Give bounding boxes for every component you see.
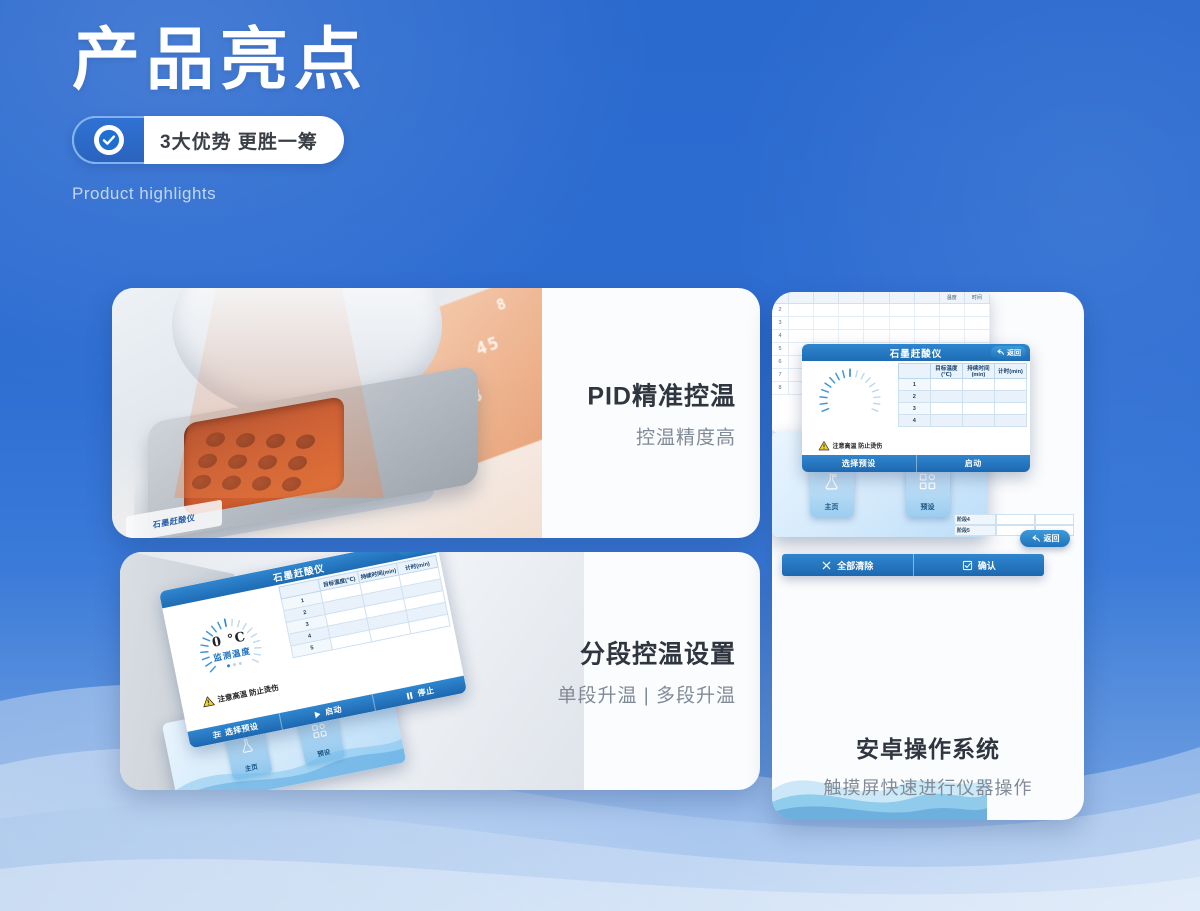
- warning-triangle-icon: [201, 694, 216, 709]
- start-button[interactable]: 启动: [917, 455, 1031, 472]
- list-cell[interactable]: [915, 304, 940, 316]
- stage-label: 阶段5: [954, 525, 996, 536]
- list-item: 3: [772, 317, 990, 330]
- table-row: 1: [898, 379, 1026, 391]
- list-cell[interactable]: [890, 304, 915, 316]
- list-header-col: [789, 292, 814, 303]
- screen-footer-bar: 选择预设 启动: [802, 455, 1030, 472]
- sliders-icon: [210, 728, 223, 741]
- list-cell[interactable]: [789, 330, 814, 342]
- list-item: 2: [772, 304, 990, 317]
- table-header-index: [898, 364, 930, 379]
- checkbox-icon: [962, 560, 973, 571]
- row-index: 3: [898, 403, 930, 415]
- segment-table[interactable]: 目标温度(℃) 持续时间(min) 计时(min) 1 2 3 4: [898, 363, 1027, 427]
- android-card-text: 安卓操作系统 触摸屏快速进行仪器操作: [772, 730, 1084, 800]
- clear-all-button[interactable]: 全部清除: [782, 554, 914, 576]
- card-pid[interactable]: 8 45 53 石墨赶酸仪 PID精准控温 控温精度高: [112, 288, 760, 538]
- page-dot[interactable]: [232, 663, 236, 667]
- page-header: 产品亮点 3大优势 更胜一筹 Product highlights: [72, 26, 368, 204]
- table-header-timer: 计时(min): [994, 364, 1026, 379]
- back-button-label: 返回: [1007, 348, 1021, 358]
- confirm-button[interactable]: 确认: [914, 554, 1045, 576]
- warning-text: 注意高温 防止烫伤: [833, 441, 883, 450]
- clear-all-label: 全部清除: [837, 559, 873, 572]
- preset-action-bar: 全部清除 确认: [782, 554, 1044, 576]
- table-header-duration: 持续时间(min): [962, 364, 994, 379]
- screen-title: 石墨赶酸仪: [890, 346, 943, 360]
- cell-target-temp[interactable]: [930, 415, 962, 427]
- cell-duration[interactable]: [962, 403, 994, 415]
- highlight-badge: 3大优势 更胜一筹: [72, 116, 344, 164]
- stage-label: 阶段4: [954, 514, 996, 525]
- stage-value[interactable]: [1035, 514, 1074, 525]
- page-dot[interactable]: [227, 664, 231, 668]
- table-row: 阶段4: [954, 514, 1074, 525]
- temperature-gauge-panel: 注意高温 防止烫伤: [802, 361, 898, 455]
- table-row: 4: [898, 415, 1026, 427]
- stage-value[interactable]: [996, 514, 1035, 525]
- cell-timer[interactable]: [994, 415, 1026, 427]
- warning-triangle-icon: [818, 440, 830, 452]
- cell-duration[interactable]: [962, 379, 994, 391]
- list-row-index: 7: [772, 369, 789, 381]
- table-row: 2: [898, 391, 1026, 403]
- menu-tile-home[interactable]: 主页: [810, 467, 854, 517]
- list-cell[interactable]: [864, 317, 889, 329]
- grid-settings-icon: [918, 472, 937, 496]
- list-cell[interactable]: [915, 330, 940, 342]
- back-arrow-icon: [403, 552, 414, 555]
- menu-tile-preset-label: 预设: [921, 502, 935, 512]
- table-header-row: 目标温度(℃) 持续时间(min) 计时(min): [898, 364, 1026, 379]
- menu-tile-home-label: 主页: [825, 502, 839, 512]
- gauge-dial: [815, 365, 885, 435]
- list-cell[interactable]: [789, 317, 814, 329]
- page-dot[interactable]: [238, 662, 242, 666]
- high-temp-warning: 注意高温 防止烫伤: [818, 440, 883, 452]
- list-row-index: 2: [772, 304, 789, 316]
- confirm-label: 确认: [978, 559, 996, 572]
- badge-icon-cap: [72, 116, 144, 164]
- preset-list-header: 温度 时间: [772, 292, 990, 304]
- stop-label: 停止: [417, 685, 436, 699]
- list-cell[interactable]: [814, 330, 839, 342]
- screen-body: 注意高温 防止烫伤 目标温度(℃) 持续时间(min) 计时(min) 1 2 …: [802, 361, 1030, 455]
- row-index: 2: [898, 391, 930, 403]
- cell-timer[interactable]: [994, 403, 1026, 415]
- list-header-col: [915, 292, 940, 303]
- list-cell[interactable]: [940, 317, 965, 329]
- back-button[interactable]: 返回: [991, 346, 1026, 359]
- list-cell[interactable]: [814, 304, 839, 316]
- list-cell[interactable]: [965, 330, 990, 342]
- list-row-index: 8: [772, 382, 789, 394]
- screen-titlebar: 石墨赶酸仪 返回: [802, 344, 1030, 361]
- list-cell[interactable]: [965, 317, 990, 329]
- pid-card-text: PID精准控温 控温精度高: [587, 377, 744, 450]
- list-cell[interactable]: [940, 330, 965, 342]
- list-row-index: 5: [772, 343, 789, 355]
- back-arrow-icon: [1031, 534, 1041, 544]
- check-circle-icon: [94, 125, 124, 155]
- row-index: 1: [898, 379, 930, 391]
- segment-card-heading: 分段控温设置: [558, 635, 737, 671]
- card-android-os[interactable]: 石墨赶酸仪 返回: [772, 292, 1084, 820]
- segment-card-subheading: 单段升温 | 多段升温: [558, 681, 737, 708]
- cell-duration[interactable]: [962, 415, 994, 427]
- start-label: 启动: [965, 458, 982, 469]
- pause-icon: [404, 689, 416, 701]
- page-title: 产品亮点: [72, 26, 368, 94]
- cell-timer[interactable]: [994, 379, 1026, 391]
- list-cell[interactable]: [940, 304, 965, 316]
- cell-target-temp[interactable]: [930, 379, 962, 391]
- temperature-gauge-panel: 0 °C 监测温度: [162, 585, 303, 732]
- gauge-ticks-icon: [815, 365, 885, 435]
- segment-screenshot-stage: 石墨赶酸仪 主页: [120, 552, 584, 790]
- list-row-index: 4: [772, 330, 789, 342]
- list-cell[interactable]: [915, 317, 940, 329]
- cell-duration[interactable]: [962, 391, 994, 403]
- select-preset-button[interactable]: 选择预设: [802, 455, 917, 472]
- preset-back-button[interactable]: 返回: [1020, 530, 1070, 547]
- select-preset-label: 选择预设: [842, 458, 876, 469]
- cell-target-temp[interactable]: [930, 403, 962, 415]
- segment-table-panel: 目标温度(℃) 持续时间(min) 计时(min) 1 2 3 4: [898, 361, 1030, 455]
- android-card-heading: 安卓操作系统: [772, 730, 1084, 764]
- table-header-target-temp: 目标温度(℃): [930, 364, 962, 379]
- android-card-subheading: 触摸屏快速进行仪器操作: [772, 774, 1084, 800]
- list-header-col: [814, 292, 839, 303]
- list-cell[interactable]: [839, 317, 864, 329]
- back-button-label: 返回: [413, 552, 429, 553]
- cell-timer[interactable]: [994, 391, 1026, 403]
- preset-back-label: 返回: [1044, 533, 1060, 544]
- play-icon: [312, 708, 324, 720]
- menu-tile-preset[interactable]: 预设: [906, 467, 950, 517]
- back-arrow-icon: [996, 348, 1005, 357]
- start-label: 启动: [324, 704, 343, 718]
- device-main-screen-right[interactable]: 石墨赶酸仪 返回: [802, 344, 1030, 472]
- list-cell[interactable]: [839, 304, 864, 316]
- close-x-icon: [821, 560, 832, 571]
- list-item: 4: [772, 330, 990, 343]
- pid-card-heading: PID精准控温: [587, 377, 736, 413]
- list-header-col: [890, 292, 915, 303]
- menu-tile-row: 主页 预设: [772, 467, 987, 517]
- list-cell[interactable]: [864, 330, 889, 342]
- seg-display-1: 8: [494, 294, 511, 315]
- list-cell[interactable]: [864, 304, 889, 316]
- list-header-col: [839, 292, 864, 303]
- cell-target-temp[interactable]: [930, 391, 962, 403]
- row-index: 4: [898, 415, 930, 427]
- list-header-col: [864, 292, 889, 303]
- flask-icon: [822, 472, 841, 496]
- badge-label: 3大优势 更胜一筹: [160, 127, 318, 154]
- gauge-dial: 0 °C 监测温度: [190, 608, 273, 691]
- list-header-temperature: 温度: [940, 292, 965, 303]
- list-cell[interactable]: [839, 330, 864, 342]
- list-cell[interactable]: [890, 330, 915, 342]
- list-cell[interactable]: [789, 304, 814, 316]
- pid-product-photo: 8 45 53 石墨赶酸仪: [112, 288, 542, 538]
- page-subtitle: Product highlights: [72, 184, 368, 204]
- list-cell[interactable]: [814, 317, 839, 329]
- list-row-index: 3: [772, 317, 789, 329]
- seg-display-2: 45: [474, 333, 504, 360]
- table-row: 3: [898, 403, 1026, 415]
- list-header-time: 时间: [965, 292, 990, 303]
- gauge-page-dots: [227, 662, 242, 668]
- list-cell[interactable]: [965, 304, 990, 316]
- card-segment-control[interactable]: 石墨赶酸仪 主页: [120, 552, 760, 790]
- pid-card-subheading: 控温精度高: [587, 423, 736, 450]
- segment-card-text: 分段控温设置 单段升温 | 多段升温: [558, 635, 745, 708]
- list-row-index: 6: [772, 356, 789, 368]
- list-cell[interactable]: [890, 317, 915, 329]
